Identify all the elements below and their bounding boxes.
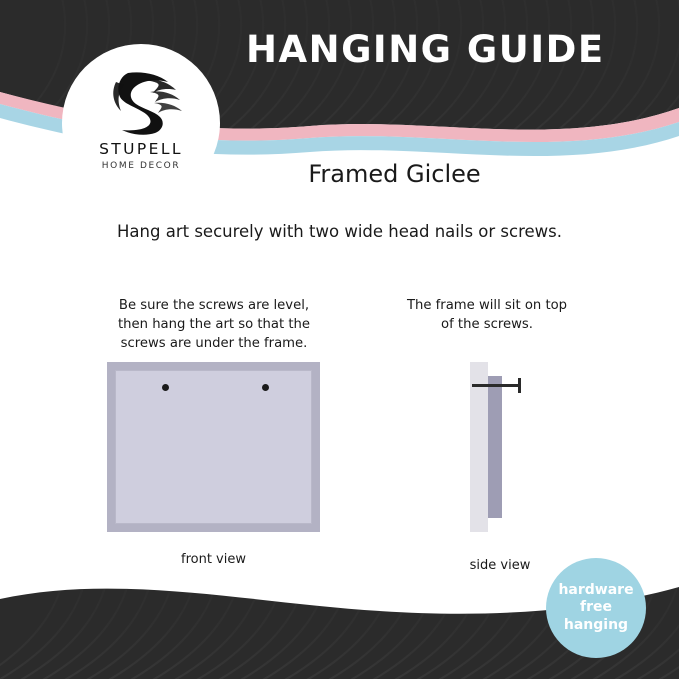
screw-left-icon (162, 384, 169, 391)
brand-logo: STUPELL HOME DECOR (62, 44, 220, 202)
side-view-caption-line-1: The frame will sit on top (384, 296, 590, 315)
badge-line-3: hanging (558, 617, 633, 635)
screw-right-icon (262, 384, 269, 391)
front-view-caption-line-3: screws are under the frame. (96, 334, 332, 353)
front-view-diagram (107, 362, 320, 532)
front-view-caption-line-1: Be sure the screws are level, (96, 296, 332, 315)
screw-shaft-icon (472, 384, 520, 387)
swoosh-logo-icon (98, 70, 184, 136)
side-view-caption-line-2: of the screws. (384, 315, 590, 334)
wall-surface (470, 362, 488, 532)
side-view-caption: The frame will sit on top of the screws. (384, 296, 590, 334)
brand-name: STUPELL (62, 140, 220, 158)
frame-inner-art (115, 370, 312, 524)
front-view-caption-line-2: then hang the art so that the (96, 315, 332, 334)
hardware-free-badge: hardware free hanging (546, 558, 646, 658)
screw-head-icon (518, 378, 521, 393)
brand-subtitle: HOME DECOR (62, 161, 220, 171)
instruction-text: Hang art securely with two wide head nai… (0, 222, 679, 241)
front-view-caption: Be sure the screws are level, then hang … (96, 296, 332, 353)
hardware-free-badge-text: hardware free hanging (558, 582, 633, 635)
side-view-diagram (444, 362, 554, 532)
hanging-guide-page: HANGING GUIDE STUPELL HOME DECOR Framed … (0, 0, 679, 679)
page-title: HANGING GUIDE (246, 28, 605, 71)
frame-side-profile (488, 376, 502, 518)
badge-line-2: free (558, 599, 633, 617)
badge-line-1: hardware (558, 582, 633, 600)
